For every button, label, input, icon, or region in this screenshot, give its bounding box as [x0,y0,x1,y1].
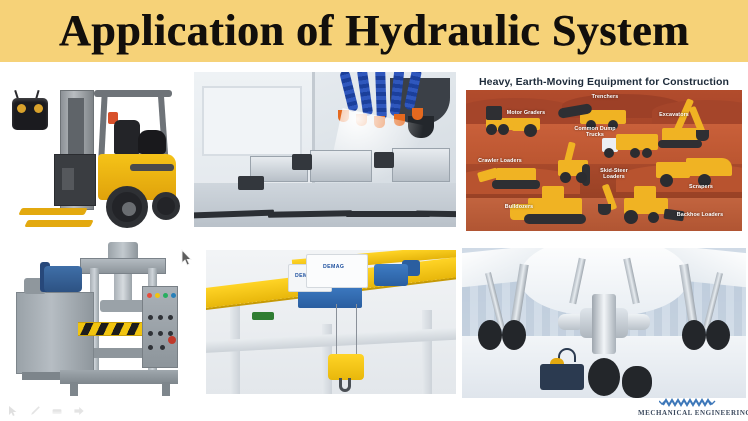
machine-dump-truck-wheel-3 [642,148,652,158]
machine-motor-grader-wheel-2 [498,124,509,135]
crane-hook [339,378,351,392]
machine-motor-grader-cab [486,106,502,120]
crane-travel-motor [374,264,408,286]
page-title: Application of Hydraulic System [59,8,689,54]
indicator-lamp-amber [155,293,160,298]
crane-hook-block [328,354,364,380]
forklift-steer-wheel [152,192,180,220]
forklift-seat-back [138,130,166,154]
machine-motor-grader-wheel-1 [486,124,497,135]
main-gear-tire-right-inner [682,320,706,350]
image-hydraulic-press[interactable] [2,240,190,398]
infographic-label-dump-trucks: Common Dump Trucks [570,126,620,139]
nose-gear-tire-side [622,366,652,398]
forklift-fork-upper [18,208,87,215]
cnc-machine-table [194,183,456,227]
infographic-label-scrapers: Scrapers [682,184,720,190]
eraser-icon[interactable] [50,404,63,417]
infographic-frame: Heavy, Earth-Moving Equipment for Constr… [466,72,742,231]
crane-trolley-housing: DEMAG [306,254,368,288]
machine-skid-steer-wheel-2 [576,172,587,183]
infographic-label-skid-steer: Skid-Steer Loaders [592,168,636,181]
cursor-arrow-icon[interactable] [6,404,19,417]
machine-backhoe-wheel-1 [624,210,638,224]
machine-backhoe-wheel-2 [648,212,659,223]
remote-control-unit [12,98,48,130]
panel-button-2[interactable] [158,315,163,320]
image-overhead-crane[interactable]: DEMAG DEMAG [206,250,456,394]
cnc-clamp-right [374,152,394,168]
gear-crown-logo-icon [659,397,721,408]
machine-bulldozer-tracks [524,214,586,224]
coolant-hose-3 [375,72,387,120]
panel-button-7[interactable] [148,345,153,350]
cnc-window-panel [202,86,302,156]
machine-skid-steer-wheel-1 [560,172,571,183]
pointer-icon[interactable] [72,404,85,417]
watermark-text: MECHANICAL ENGINEERING [638,409,742,417]
machine-dump-truck-wheel-1 [604,148,614,158]
panel-button-4[interactable] [148,331,153,336]
infographic-label-excavators: Excavators [652,112,696,118]
emergency-stop-button[interactable] [168,336,176,344]
infographic-title: Heavy, Earth-Moving Equipment for Constr… [466,76,742,88]
panel-button-5[interactable] [158,331,163,336]
indicator-lamp-blue [171,293,176,298]
cnc-fixture-foot [238,176,264,190]
hall-column-right [422,310,432,394]
forklift-drive-wheel [106,186,148,228]
press-electric-motor [44,266,82,292]
machine-excavator-tracks [658,140,702,148]
infographic-label-motor-graders: Motor Graders [502,110,550,116]
image-earth-moving-infographic[interactable]: Heavy, Earth-Moving Equipment for Constr… [462,68,746,237]
cnc-clamp-left [292,154,312,170]
press-leg-left [70,382,78,396]
main-gear-tire-left-inner [502,320,526,350]
forklift-carriage [54,154,96,206]
machine-backhoe-rear-bucket [598,204,611,215]
main-gear-tire-right-outer [706,320,730,350]
crane-brand-front: DEMAG [323,264,344,270]
press-control-panel[interactable] [142,286,178,368]
infographic-label-bulldozers: Bulldozers [498,204,540,210]
forklift-carriage-slot [62,168,74,190]
machine-scraper-bowl [686,158,732,176]
machine-dump-truck-wheel-2 [630,148,640,158]
nose-gear-tire-center [588,358,620,396]
indicator-lamp-green [163,293,168,298]
image-aircraft-landing-gear[interactable] [462,248,746,398]
machine-scraper-wheel-1 [660,174,673,187]
machine-crawler-loader-tracks [492,180,540,189]
indicator-lamp-red [147,293,152,298]
panel-button-1[interactable] [148,315,153,320]
infographic-label-backhoe-loaders: Backhoe Loaders [672,212,728,218]
forklift-seat [114,120,140,154]
panel-button-8[interactable] [160,345,165,350]
main-gear-tire-left-outer [478,320,502,350]
pen-icon[interactable] [28,404,41,417]
hoist-rope-left [336,304,337,356]
cnc-t-slot-4 [416,210,456,217]
image-cnc-machine[interactable] [194,72,456,227]
watermark: MECHANICAL ENGINEERING [638,397,742,417]
press-ram-plate [100,300,148,312]
cnc-workpiece-mid [310,150,372,182]
infographic-label-crawler-loaders: Crawler Loaders [474,158,526,164]
machine-backhoe-cab [634,186,656,200]
ground-support-cart [540,364,584,390]
forklift-body-stripe [130,164,174,171]
infographic-label-trenchers: Trenchers [584,94,626,100]
cnc-workpiece-right [392,148,450,182]
forklift-fork-lower [24,220,93,227]
nose-gear-oleo-strut [592,294,616,354]
title-banner: Application of Hydraulic System [0,0,748,62]
machine-motor-grader-wheel-3 [524,124,537,137]
crane-pendant-control [252,312,274,320]
coolant-nozzle-5 [412,108,423,120]
hoist-rope-right [356,304,357,356]
annotation-toolbar[interactable] [6,404,85,417]
panel-button-3[interactable] [168,315,173,320]
press-leg-right [162,382,170,396]
machine-bulldozer-cab [542,186,564,200]
image-forklift[interactable] [2,68,190,234]
